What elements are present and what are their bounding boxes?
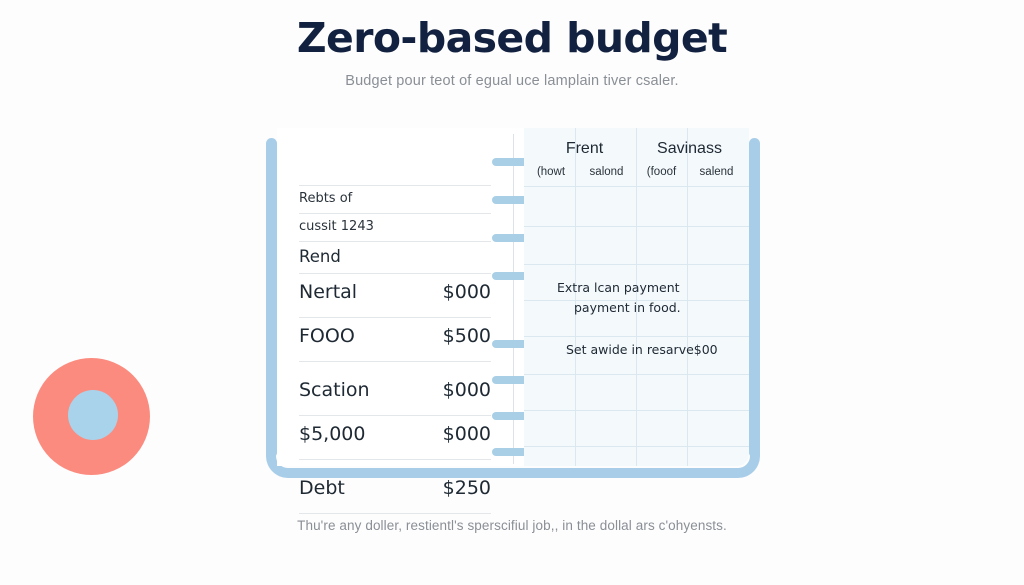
- column-sub-label: (fooof: [636, 166, 687, 178]
- ledger-row: Nertal $000: [299, 274, 491, 318]
- column-group-title: Frent: [532, 140, 637, 158]
- grid-line-vertical: [575, 128, 576, 466]
- column-sub-label: salond: [577, 166, 636, 178]
- notebook-right-page: Frent Savinass (howt salond (fooof salen…: [524, 128, 749, 466]
- column-sub-label: salend: [688, 166, 745, 178]
- ledger-row: cussit 1243: [299, 214, 491, 242]
- ledger-row: Debt $250: [299, 470, 491, 514]
- ledger-row-label: Scation: [299, 379, 370, 401]
- notebook-pages: Rebts of cussit 1243 Rend Nertal $000 FO…: [277, 128, 749, 466]
- footer-caption: Thu're any doller, restientl's sperscifi…: [0, 518, 1024, 533]
- notebook-cover-left-edge: [266, 138, 277, 458]
- ledger-row-label: FOOO: [299, 325, 355, 347]
- grid-line-horizontal: [524, 264, 749, 265]
- ledger-row-amount: $500: [443, 325, 491, 347]
- ledger-row: FOOO $500: [299, 318, 491, 362]
- ledger-row-label: Nertal: [299, 281, 357, 303]
- ledger-row: $5,000 $000: [299, 416, 491, 460]
- ledger-row-amount: $250: [443, 477, 491, 499]
- ledger-row-label: Debt: [299, 477, 345, 499]
- grid-line-horizontal: [524, 336, 749, 337]
- grid-line-horizontal: [524, 226, 749, 227]
- column-group-title: Savinass: [637, 140, 742, 158]
- ledger-row-amount: $000: [443, 281, 491, 303]
- grid-line-horizontal: [524, 186, 749, 187]
- grid-line-vertical: [687, 128, 688, 466]
- right-page-note: payment in food.: [574, 300, 681, 315]
- ledger-row-label: Rebts of: [299, 191, 352, 206]
- notebook-cover-right-edge: [749, 138, 760, 458]
- grid-line-vertical: [636, 128, 637, 466]
- ledger-row-amount: $000: [443, 423, 491, 445]
- notebook-left-page: Rebts of cussit 1243 Rend Nertal $000 FO…: [277, 128, 502, 466]
- ledger-row-amount: $000: [443, 379, 491, 401]
- column-sub-label: (howt: [526, 166, 576, 178]
- right-page-note: Set awide in resarve$00: [566, 342, 718, 357]
- notebook-illustration: Rebts of cussit 1243 Rend Nertal $000 FO…: [266, 128, 760, 478]
- grid-line-horizontal: [524, 410, 749, 411]
- ledger-row-label: cussit 1243: [299, 219, 374, 234]
- budget-ledger-list: Rebts of cussit 1243 Rend Nertal $000 FO…: [299, 185, 491, 514]
- header: Zero-based budget Budget pour teot of eg…: [0, 14, 1024, 89]
- ledger-row: Rebts of: [299, 186, 491, 214]
- ledger-row-label: Rend: [299, 247, 341, 266]
- decorative-circle-inner: [68, 390, 118, 440]
- ledger-row: Rend: [299, 242, 491, 274]
- page-subtitle: Budget pour teot of egual uce lamplain t…: [0, 73, 1024, 89]
- right-page-note: Extra lcan payment: [557, 280, 680, 295]
- notebook-spine: [502, 128, 524, 466]
- grid-line-horizontal: [524, 374, 749, 375]
- grid-line-horizontal: [524, 446, 749, 447]
- page-title: Zero-based budget: [0, 14, 1024, 62]
- ledger-row-label: $5,000: [299, 423, 365, 445]
- ledger-row: Scation $000: [299, 372, 491, 416]
